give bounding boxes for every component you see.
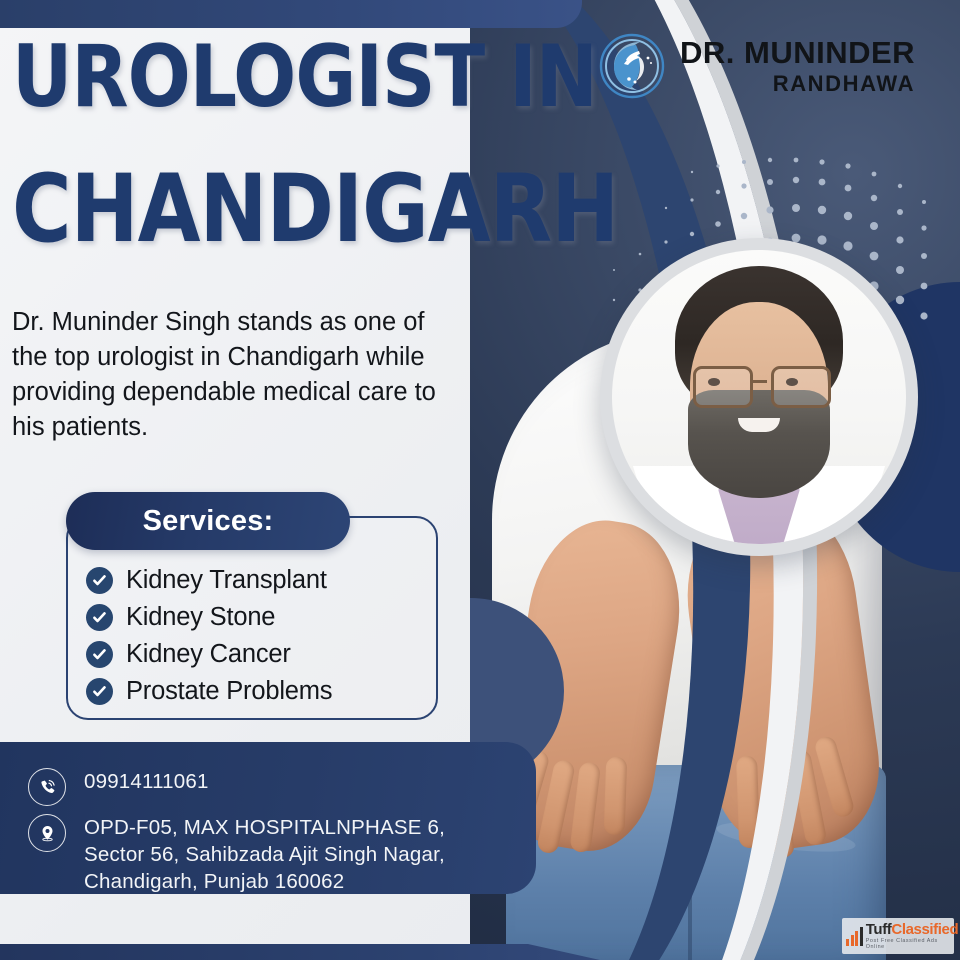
check-circle-icon xyxy=(86,567,113,594)
headline-line-1: UROLOGIST IN xyxy=(12,38,434,117)
check-circle-icon xyxy=(86,678,113,705)
watermark-brand-first: Tuff xyxy=(866,921,892,938)
list-item[interactable]: Prostate Problems xyxy=(86,673,436,710)
list-item[interactable]: Kidney Stone xyxy=(86,599,436,636)
phone-icon xyxy=(28,768,66,806)
doctor-portrait-ring xyxy=(600,238,918,556)
kidney-hands-circle-logo-icon xyxy=(596,30,668,102)
services-list: Kidney Transplant Kidney Stone Kidney Ca… xyxy=(86,562,436,710)
list-item[interactable]: Kidney Cancer xyxy=(86,636,436,673)
service-label: Kidney Cancer xyxy=(126,640,291,669)
service-label: Prostate Problems xyxy=(126,677,332,706)
list-item[interactable]: Kidney Transplant xyxy=(86,562,436,599)
bar-chart-icon xyxy=(846,927,863,946)
top-navy-bar xyxy=(0,0,582,28)
contact-address-row[interactable]: OPD-F05, MAX HOSPITALNPHASE 6, Sector 56… xyxy=(28,814,445,895)
page-title: UROLOGIST IN CHANDIGARH xyxy=(12,38,452,254)
contact-phone-number: 09914111061 xyxy=(84,768,209,795)
address-line-1: OPD-F05, MAX HOSPITALNPHASE 6, xyxy=(84,816,445,839)
services-heading-pill: Services: xyxy=(66,492,350,550)
services-heading-label: Services: xyxy=(143,505,274,538)
watermark-tagline: Post Free Classified Ads Online xyxy=(866,939,958,950)
doctor-eyeglass-left xyxy=(693,366,753,408)
watermark-text: TuffClassified Post Free Classified Ads … xyxy=(866,922,958,950)
check-circle-icon xyxy=(86,604,113,631)
doctor-eyeglass-right xyxy=(771,366,831,408)
brand-surname: RANDHAWA xyxy=(773,73,915,95)
doctor-portrait-photo xyxy=(612,250,906,544)
check-circle-icon xyxy=(86,641,113,668)
address-line-2: Sector 56, Sahibzada Ajit Singh Nagar, xyxy=(84,843,445,866)
contact-phone-row[interactable]: 09914111061 xyxy=(28,768,209,806)
bottom-navy-bar xyxy=(0,944,600,960)
intro-paragraph: Dr. Muninder Singh stands as one of the … xyxy=(12,305,464,445)
address-line-3: Chandigarh, Punjab 160062 xyxy=(84,870,344,893)
location-pin-icon xyxy=(28,814,66,852)
poster-canvas: UROLOGIST IN CHANDIGARH DR. MUNINDER xyxy=(0,0,960,960)
service-label: Kidney Stone xyxy=(126,603,275,632)
contact-panel: 09914111061 OPD-F05, MAX HOSPITALNPHASE … xyxy=(0,742,536,894)
brand-logo-text: DR. MUNINDER RANDHAWA xyxy=(680,37,915,95)
service-label: Kidney Transplant xyxy=(126,566,327,595)
brand-logo[interactable]: DR. MUNINDER RANDHAWA xyxy=(596,30,915,102)
contact-address: OPD-F05, MAX HOSPITALNPHASE 6, Sector 56… xyxy=(84,814,445,895)
brand-name: DR. MUNINDER xyxy=(680,37,915,68)
tuffclassified-watermark[interactable]: TuffClassified Post Free Classified Ads … xyxy=(842,918,954,954)
doctor-eyeglass-bridge xyxy=(751,380,767,383)
headline-line-2: CHANDIGARH xyxy=(12,167,434,253)
watermark-brand-second: Classified xyxy=(891,921,958,938)
